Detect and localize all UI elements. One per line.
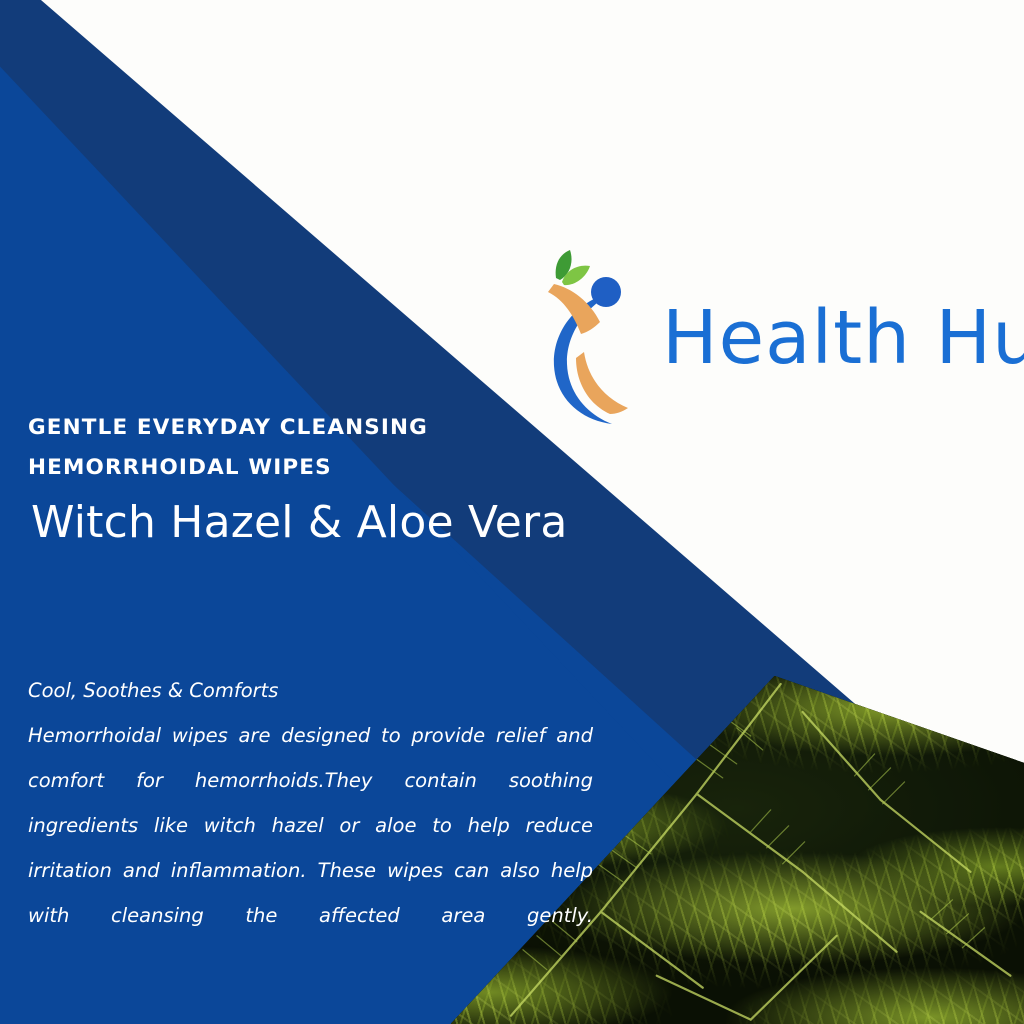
- eyebrow-line-1: GENTLE EVERYDAY CLEANSING: [28, 408, 608, 448]
- description-paragraph: Hemorrhoidal wipes are designed to provi…: [28, 713, 593, 983]
- brand-wordmark: Health Hub: [662, 301, 1024, 375]
- hero-copy-block: GENTLE EVERYDAY CLEANSING HEMORRHOIDAL W…: [28, 408, 608, 549]
- description-block: Cool, Soothes & Comforts Hemorrhoidal wi…: [28, 668, 593, 983]
- description-lede: Cool, Soothes & Comforts: [28, 668, 593, 713]
- product-poster: Health Hub GENTLE EVERYDAY CLEANSING HEM…: [0, 0, 1024, 1024]
- eyebrow-line-2: HEMORRHOIDAL WIPES: [28, 448, 608, 488]
- product-title: Witch Hazel & Aloe Vera: [31, 498, 608, 549]
- person-with-leaves-logo-icon: [536, 248, 668, 428]
- brand-lockup: Health Hub: [536, 243, 1014, 433]
